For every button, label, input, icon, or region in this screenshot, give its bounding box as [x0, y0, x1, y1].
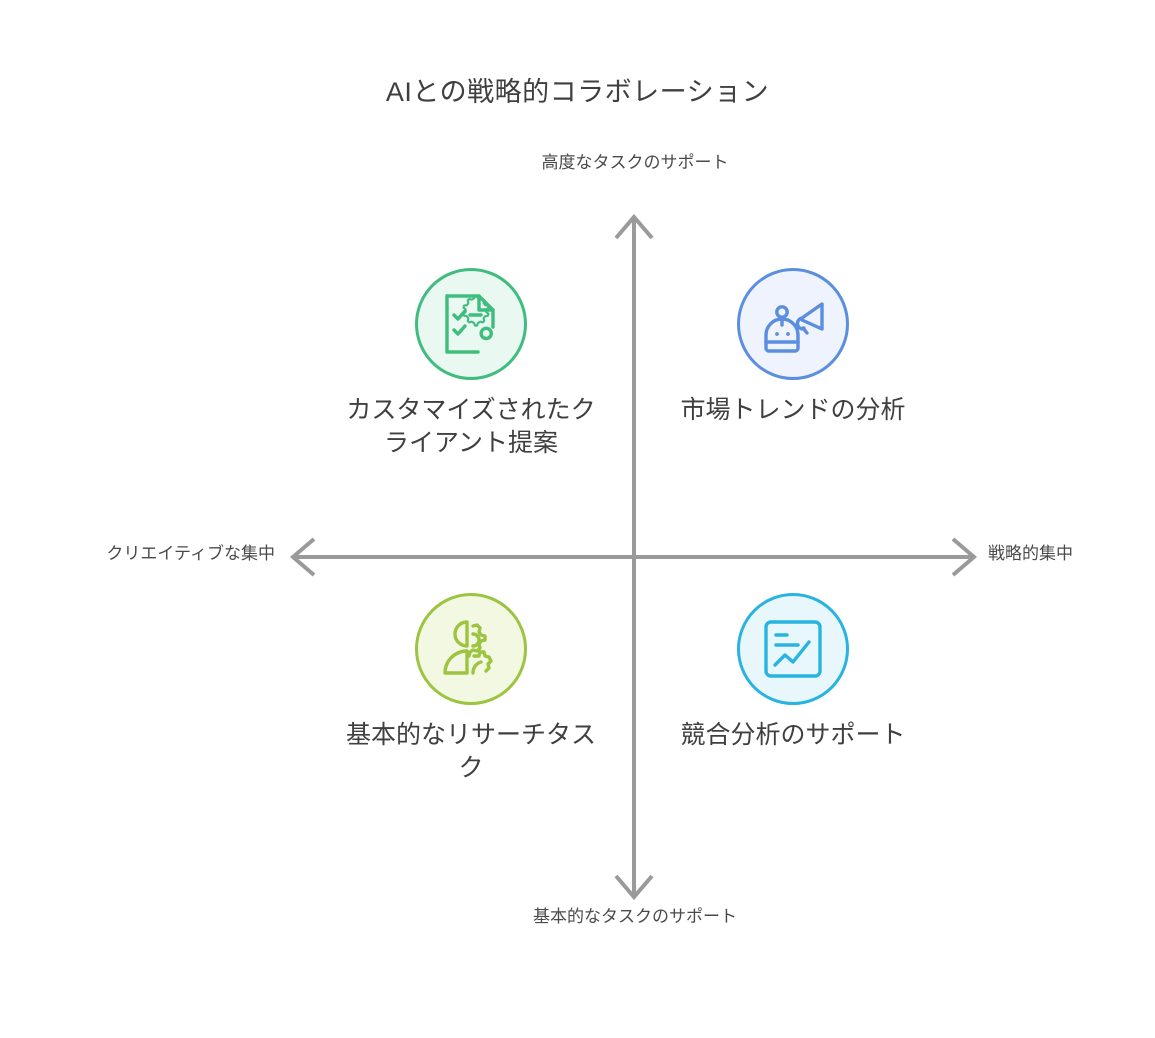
person-gear-icon [415, 593, 527, 705]
quadrant-label-bottom-right: 競合分析のサポート [663, 719, 923, 752]
quadrant-item-top-right[interactable]: 市場トレンドの分析 [643, 268, 943, 427]
document-checklist-gear-icon [415, 268, 527, 380]
quadrant-label-top-left: カスタマイズされたクライアント提案 [341, 394, 601, 460]
robot-megaphone-icon [737, 268, 849, 380]
chart-report-icon [737, 593, 849, 705]
axis-label-right: 戦略的集中 [988, 543, 1148, 566]
axis-label-bottom: 基本的なタスクのサポート [495, 906, 775, 929]
quadrant-diagram: AIとの戦略的コラボレーション 高度なタスクのサポート 基本的なタスクのサポート… [0, 0, 1155, 1038]
quadrant-label-bottom-left: 基本的なリサーチタスク [341, 719, 601, 785]
quadrant-item-bottom-right[interactable]: 競合分析のサポート [643, 593, 943, 752]
quadrant-item-top-left[interactable]: カスタマイズされたクライアント提案 [321, 268, 621, 460]
axis-label-left: クリエイティブな集中 [20, 543, 275, 566]
quadrant-item-bottom-left[interactable]: 基本的なリサーチタスク [321, 593, 621, 785]
quadrant-label-top-right: 市場トレンドの分析 [663, 394, 923, 427]
axis-label-top: 高度なタスクのサポート [495, 152, 775, 175]
